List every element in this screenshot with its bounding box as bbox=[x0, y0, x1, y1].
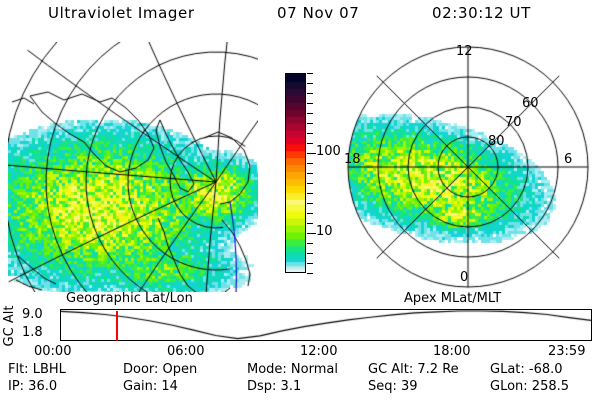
geographic-aurora-image bbox=[8, 42, 258, 292]
orbit-ytick-max: 9.0 bbox=[22, 307, 43, 322]
colorbar-tick bbox=[307, 213, 313, 214]
colorbar-tick bbox=[307, 113, 313, 114]
mlt-label-18: 18 bbox=[344, 152, 361, 167]
status-field-dsp: Dsp: 3.1 bbox=[247, 379, 301, 394]
mlat-ring-label-60: 60 bbox=[522, 96, 539, 111]
observation-date: 07 Nov 07 bbox=[277, 4, 359, 22]
colorbar-tick bbox=[307, 193, 313, 194]
colorbar-legend: photon cm-2s-1 10010 bbox=[258, 55, 348, 295]
colorbar-tick bbox=[307, 263, 313, 264]
mlt-label-6: 6 bbox=[564, 152, 572, 167]
apex-panel-subtitle: Apex MLat/MLT bbox=[404, 291, 501, 306]
apex-dial-panel: 12 18 6 0 60 70 80 bbox=[340, 42, 596, 292]
geographic-map-panel bbox=[8, 42, 258, 292]
colorbar-tick bbox=[307, 163, 313, 164]
status-field-glat: GLat: -68.0 bbox=[490, 362, 563, 377]
status-field-gc-alt: GC Alt: 7.2 Re bbox=[368, 362, 459, 377]
colorbar-tick bbox=[307, 73, 313, 74]
colorbar-tick bbox=[307, 203, 313, 204]
orbit-altitude-plot: GC Alt 9.0 1.8 00:0006:0012:0018:0023:59 bbox=[0, 305, 600, 355]
uvi-summary-display: Ultraviolet Imager 07 Nov 07 02:30:12 UT… bbox=[0, 0, 600, 400]
status-field-mode: Mode: Normal bbox=[247, 362, 338, 377]
colorbar-major-tick bbox=[307, 233, 316, 234]
colorbar-tick bbox=[307, 133, 313, 134]
mlt-label-0: 0 bbox=[460, 270, 468, 285]
status-field-flt: Flt: LBHL bbox=[8, 362, 66, 377]
current-time-marker bbox=[116, 311, 118, 341]
status-field-door: Door: Open bbox=[123, 362, 197, 377]
header-bar: Ultraviolet Imager 07 Nov 07 02:30:12 UT bbox=[0, 4, 600, 30]
colorbar-tick bbox=[307, 173, 313, 174]
colorbar-tick bbox=[307, 83, 313, 84]
orbit-xtick-0: 00:00 bbox=[34, 344, 71, 359]
status-field-gain: Gain: 14 bbox=[123, 379, 178, 394]
colorbar-tick bbox=[307, 273, 313, 274]
colorbar-tick-label-10: 10 bbox=[316, 224, 333, 239]
status-row-2: IP: 36.0Gain: 14Dsp: 3.1Seq: 39GLon: 258… bbox=[0, 379, 600, 397]
mlat-ring-label-80: 80 bbox=[488, 134, 505, 149]
colorbar-tick bbox=[307, 183, 313, 184]
orbit-plot-box bbox=[60, 309, 592, 341]
colorbar-tick bbox=[307, 103, 313, 104]
colorbar-gradient bbox=[286, 74, 305, 272]
apex-aurora-dial bbox=[340, 42, 596, 292]
orbit-altitude-trace bbox=[61, 310, 591, 340]
orbit-ytick-min: 1.8 bbox=[22, 325, 43, 340]
colorbar-tick bbox=[307, 253, 313, 254]
orbit-xtick-3: 18:00 bbox=[433, 344, 470, 359]
orbit-xtick-1: 06:00 bbox=[167, 344, 204, 359]
observation-time: 02:30:12 UT bbox=[432, 4, 531, 22]
colorbar-swatch bbox=[285, 73, 306, 273]
colorbar-tick bbox=[307, 223, 313, 224]
orbit-xtick-2: 12:00 bbox=[300, 344, 337, 359]
page-title: Ultraviolet Imager bbox=[48, 4, 195, 22]
status-footer: Flt: LBHLDoor: OpenMode: NormalGC Alt: 7… bbox=[0, 362, 600, 400]
geographic-panel-subtitle: Geographic Lat/Lon bbox=[66, 291, 193, 306]
status-field-ip: IP: 36.0 bbox=[8, 379, 57, 394]
colorbar-tick bbox=[307, 243, 313, 244]
mlat-ring-label-70: 70 bbox=[505, 115, 522, 130]
colorbar-tick-label-100: 100 bbox=[316, 144, 341, 159]
colorbar-major-tick bbox=[307, 153, 316, 154]
colorbar-tick bbox=[307, 123, 313, 124]
colorbar-tick bbox=[307, 143, 313, 144]
mlt-label-12: 12 bbox=[456, 44, 473, 59]
status-row-1: Flt: LBHLDoor: OpenMode: NormalGC Alt: 7… bbox=[0, 362, 600, 380]
status-field-seq: Seq: 39 bbox=[368, 379, 418, 394]
orbit-xtick-4: 23:59 bbox=[548, 344, 585, 359]
colorbar-tick bbox=[307, 93, 313, 94]
status-field-glon: GLon: 258.5 bbox=[490, 379, 569, 394]
